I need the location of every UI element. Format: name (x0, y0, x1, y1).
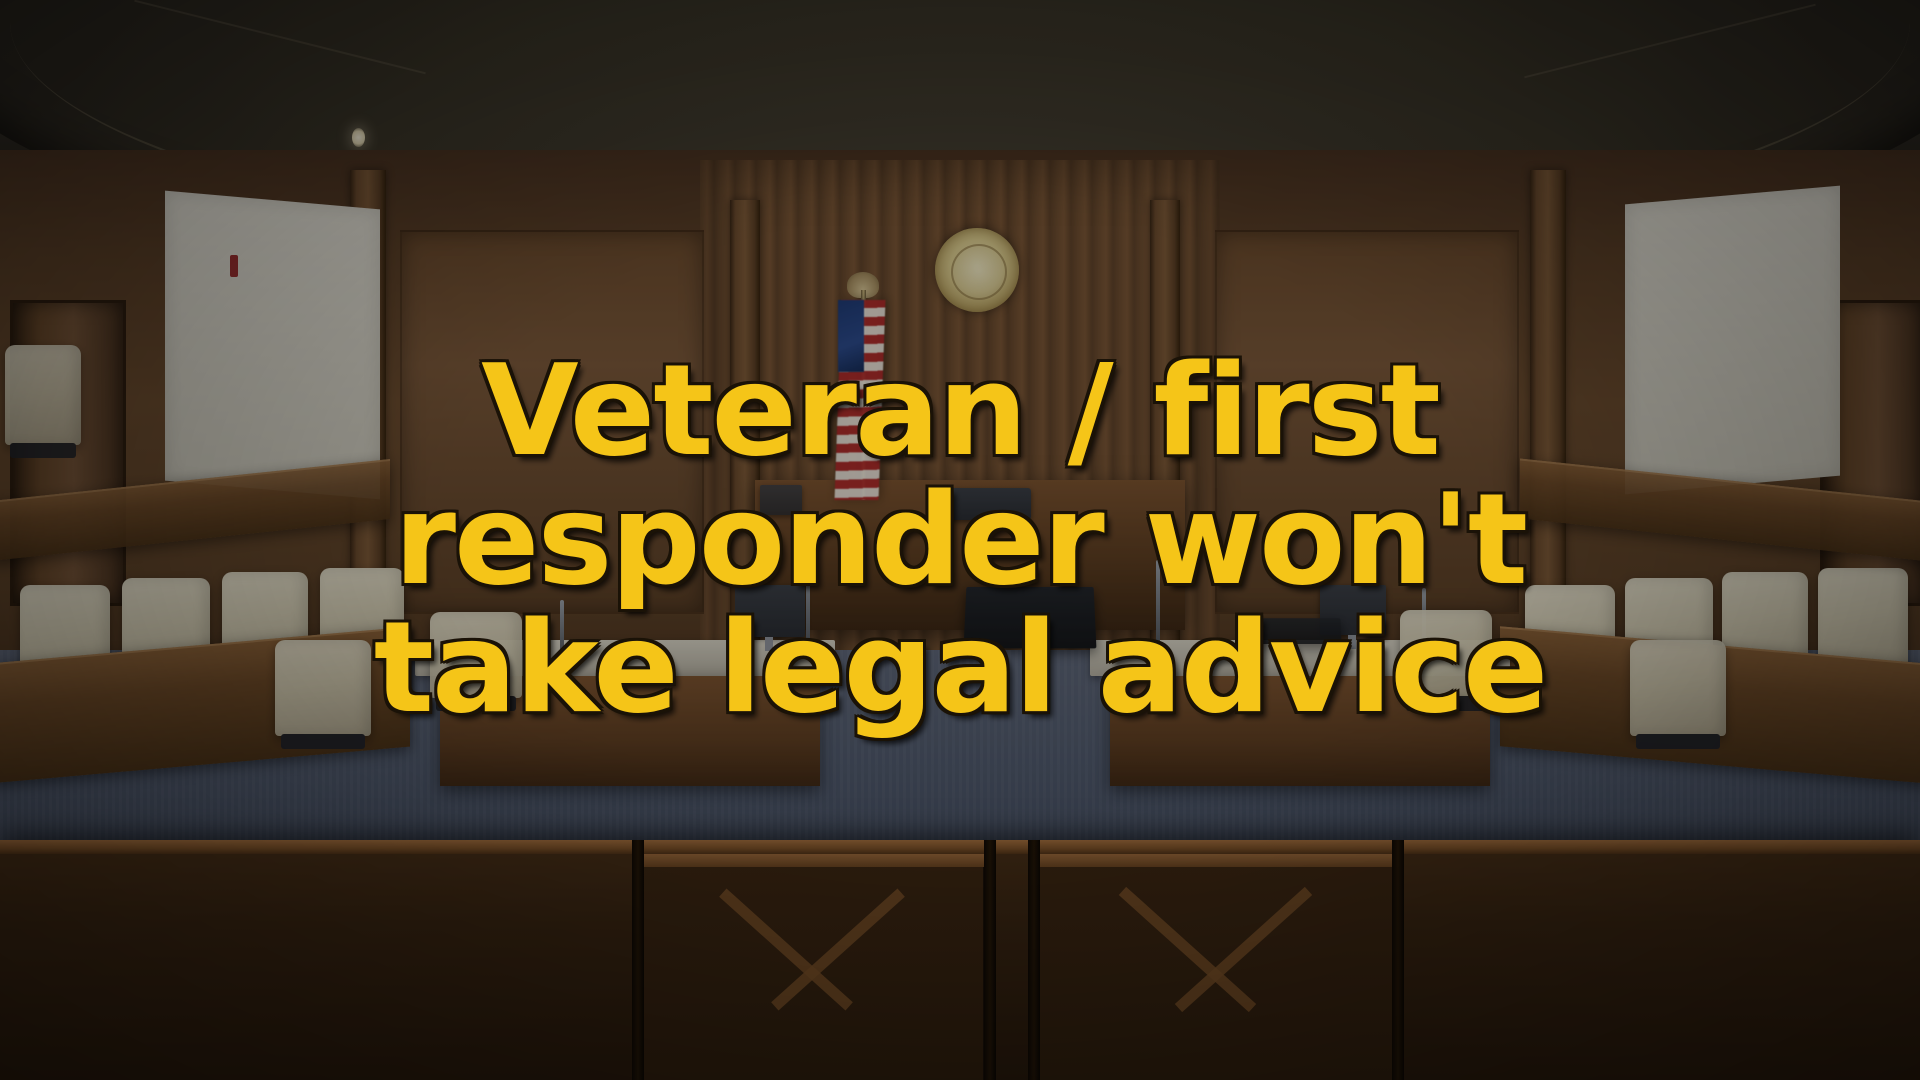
gate-post (1392, 840, 1404, 1080)
counsel-chair (1400, 610, 1492, 698)
monitor-stand (1348, 635, 1356, 649)
wall-panel (400, 230, 704, 614)
microphone (560, 600, 564, 660)
flag-canton (838, 300, 864, 372)
wall-fire-alarm (230, 255, 238, 277)
court-seal (935, 228, 1019, 312)
counsel-chair (1630, 640, 1726, 736)
witness-monitor (760, 485, 802, 515)
wall-inset-left (165, 191, 380, 500)
gate-cap (1035, 854, 1396, 867)
bench-monitor (945, 488, 1031, 520)
laptop (964, 587, 1097, 648)
wall-inset-right (1625, 186, 1840, 495)
wall-panel (1215, 230, 1519, 614)
monitor-stand (765, 637, 773, 651)
gate-cap (640, 854, 986, 867)
gate-post (984, 840, 996, 1080)
counsel-chair (430, 612, 522, 698)
gate-post (1028, 840, 1040, 1080)
ceiling-downlight (352, 128, 365, 147)
bar-gate-left[interactable] (640, 854, 986, 1080)
microphone (1156, 560, 1160, 652)
microphone (806, 568, 810, 652)
laptop (1245, 618, 1342, 644)
jury-chair (5, 345, 81, 445)
courtroom-monitor (735, 585, 805, 637)
bar-cap-rail (0, 840, 1920, 854)
screenshot-canvas: Veteran / first responder won't take leg… (0, 0, 1920, 1080)
bar-gate-right[interactable] (1035, 854, 1396, 1080)
courtroom-photo (0, 0, 1920, 1080)
counsel-chair (275, 640, 371, 736)
gate-post (632, 840, 644, 1080)
